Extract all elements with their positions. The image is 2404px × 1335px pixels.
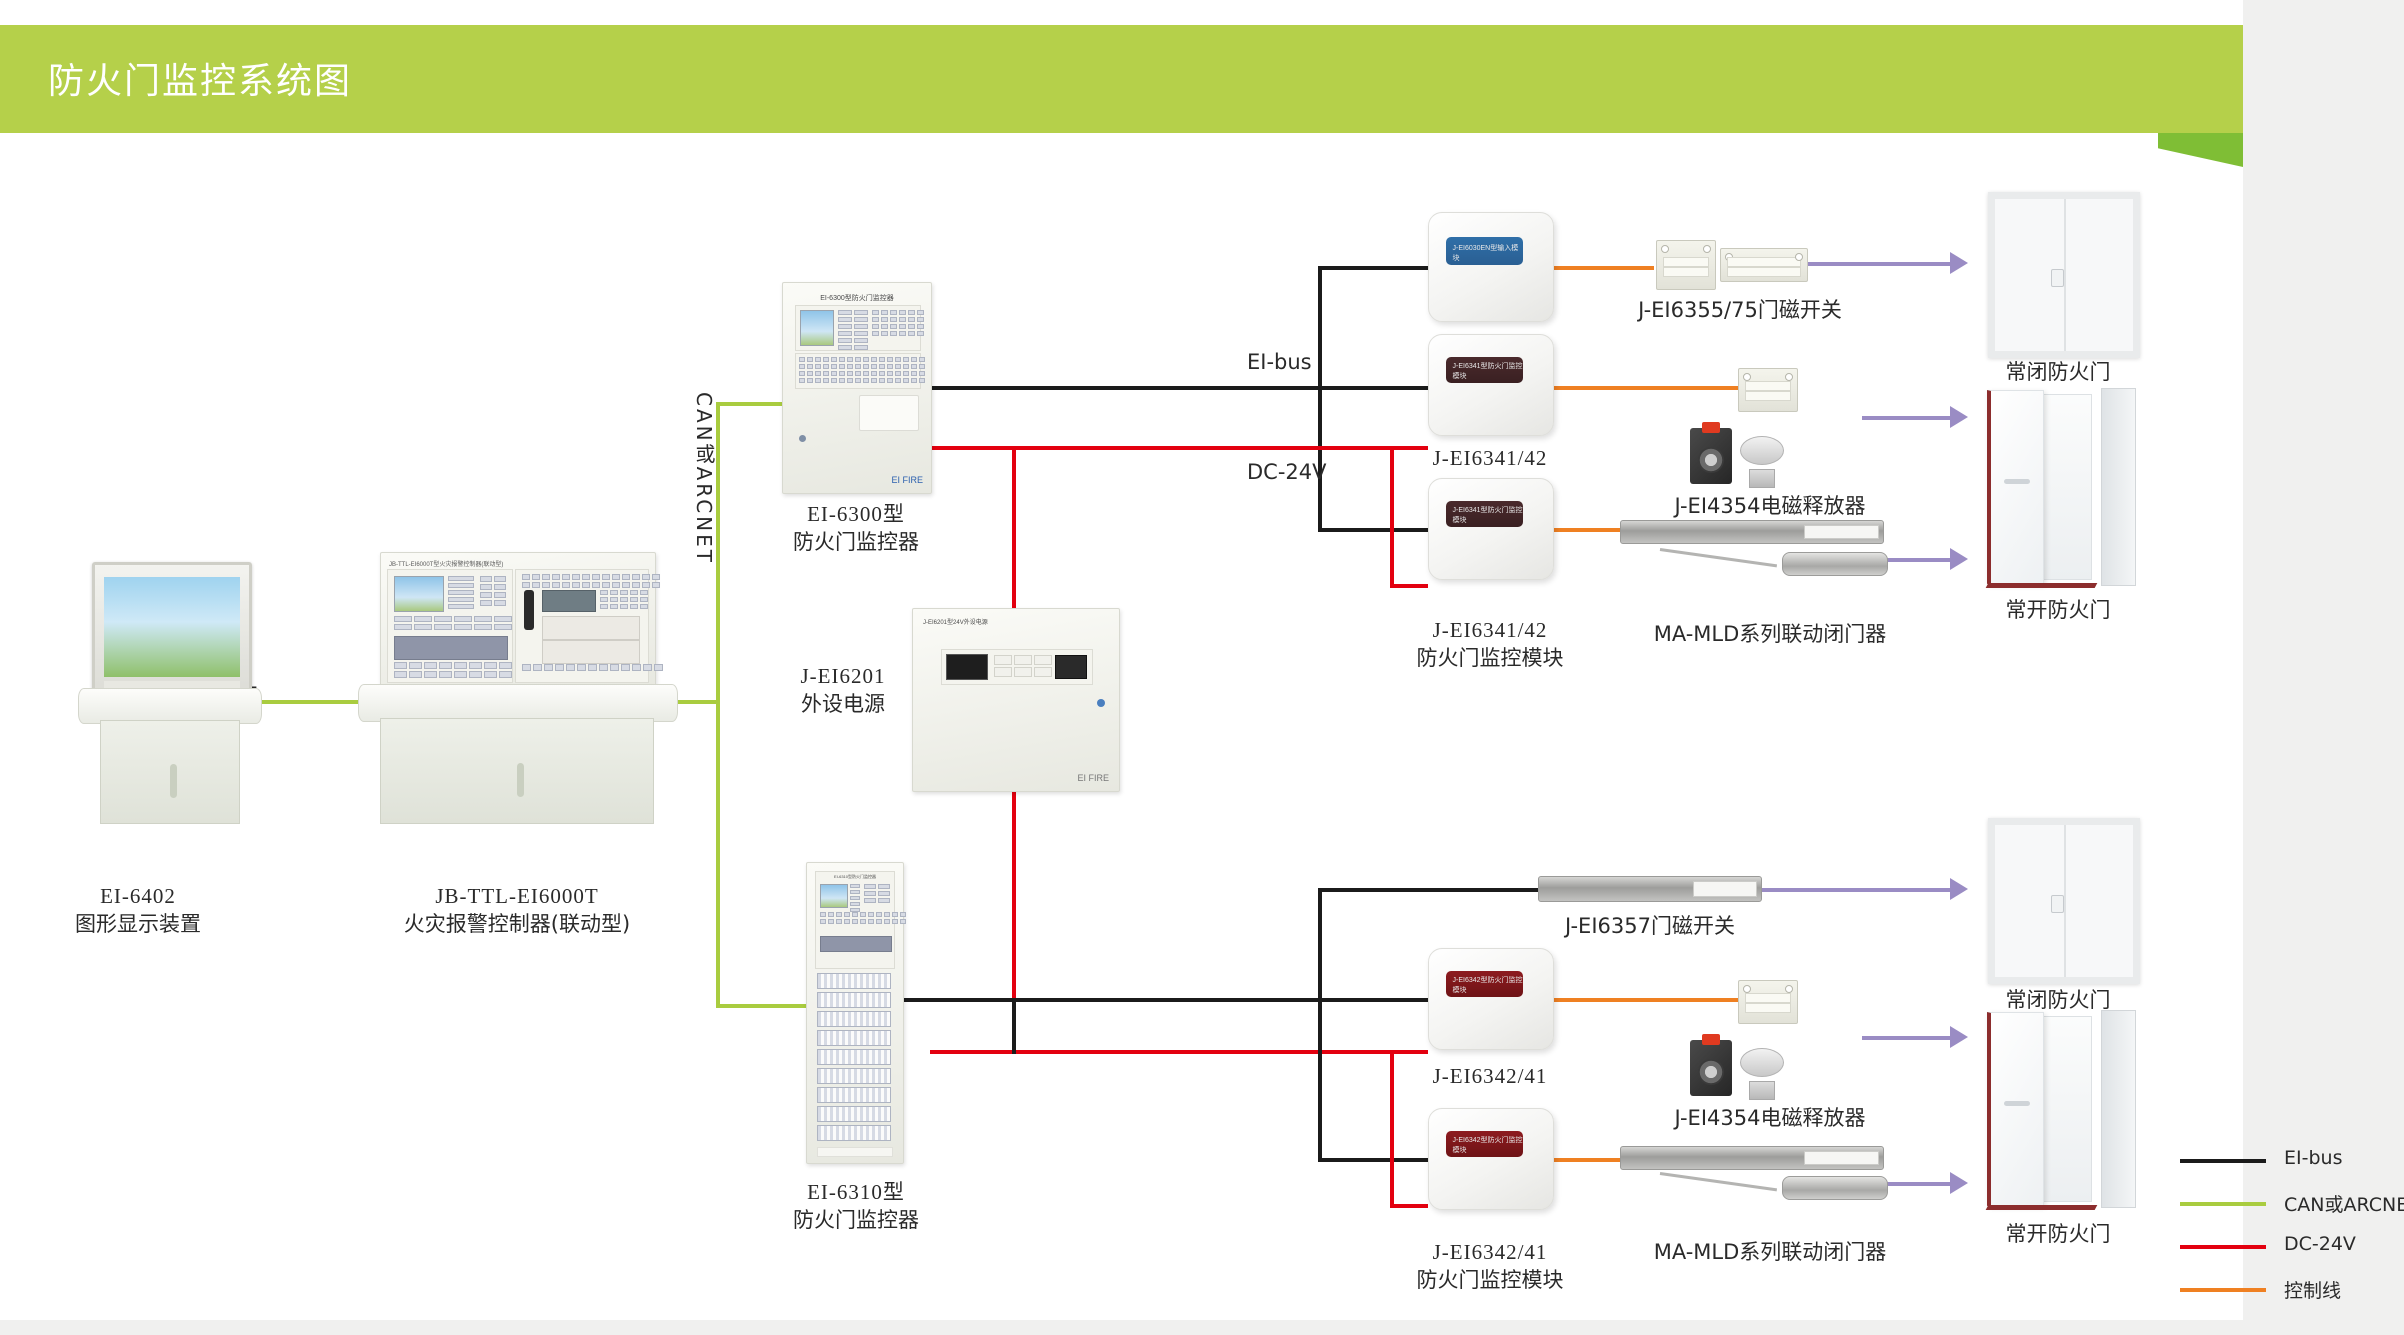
module-6341b-label-strip: J-EI6341型防火门监控模块 bbox=[1446, 501, 1523, 527]
power-supply-model: J-EI6201 bbox=[778, 662, 908, 690]
monitor-6310-led-col bbox=[850, 884, 860, 912]
arrow-door-open-bottom-1 bbox=[1950, 1026, 1968, 1048]
device-door-switch-6355-mate bbox=[1720, 248, 1808, 282]
module-6342a-strip-text: J-EI6342型防火门监控模块 bbox=[1453, 975, 1524, 995]
door-switch-6357-tag bbox=[1693, 881, 1757, 897]
wire-dc24v-bottom-riser bbox=[1390, 1050, 1394, 1206]
monitor-6310-module-bay bbox=[820, 936, 892, 952]
releaser-top-coil bbox=[1698, 447, 1723, 473]
legend-label-ei-bus: EI-bus bbox=[2284, 1147, 2342, 1169]
legend-swatch-dc24v bbox=[2180, 1245, 2266, 1249]
legend-label-control-line: 控制线 bbox=[2284, 1276, 2341, 1303]
door-switch-6355-label: J-EI6355/75门磁开关 bbox=[1600, 296, 1880, 324]
device-door-closed-top bbox=[1988, 192, 2140, 358]
wire-eibus-bottom-riser bbox=[1318, 890, 1322, 1160]
releaser-bottom-label: J-EI4354电磁释放器 bbox=[1620, 1104, 1920, 1132]
module-6342b-label-strip: J-EI6342型防火门监控模块 bbox=[1446, 1131, 1523, 1157]
device-module-6342-a[interactable]: J-EI6342型防火门监控模块 bbox=[1428, 948, 1554, 1050]
device-closer-top-body bbox=[1782, 552, 1888, 576]
module-6030en-strip-text: J-EI6030EN型输入模块 bbox=[1453, 243, 1524, 263]
wire-eibus-bottom-spine bbox=[1012, 1000, 1016, 1054]
arrow-door-open-top-2 bbox=[1950, 548, 1968, 570]
device-input-module-6030en[interactable]: J-EI6030EN型输入模块 bbox=[1428, 212, 1554, 322]
door-open-top-leaf-back bbox=[2036, 394, 2093, 580]
door-switch-6355-line-1 bbox=[1663, 257, 1709, 267]
wire-can-to-6310 bbox=[716, 1004, 806, 1008]
controller-panel-title: JB-TTL-EI6000T型火灾报警控制器(联动型) bbox=[389, 559, 503, 568]
module-6341b-strip-text: J-EI6341型防火门监控模块 bbox=[1453, 505, 1524, 525]
power-supply-face bbox=[941, 649, 1093, 685]
door-open-bottom-sill bbox=[1986, 1205, 2098, 1210]
door-open-top-label: 常开防火门 bbox=[1958, 596, 2158, 624]
door-switch-6355-mate-line-2 bbox=[1727, 267, 1801, 277]
monitor-6300-model: EI-6300型 bbox=[760, 500, 952, 528]
wire-dc24v-to-6342a bbox=[1390, 1050, 1428, 1054]
controller-right-top-keys[interactable] bbox=[522, 574, 660, 588]
releaser-bottom-plate-disc bbox=[1740, 1048, 1784, 1077]
controller-handset-bay bbox=[394, 636, 508, 660]
controller-right-keys[interactable] bbox=[600, 590, 648, 609]
device-closer-top-rail bbox=[1620, 520, 1884, 544]
wire-eibus-top-main bbox=[930, 386, 1320, 390]
legend-label-dc24v: DC-24V bbox=[2284, 1233, 2356, 1255]
device-power-supply[interactable]: J-EI6201型24V外设电源 EI FIRE bbox=[912, 608, 1120, 792]
device-module-6342-b[interactable]: J-EI6342型防火门监控模块 bbox=[1428, 1108, 1554, 1210]
module-6341a-label-strip: J-EI6341型防火门监控模块 bbox=[1446, 357, 1523, 383]
module-6341-b-name: 防火门监控模块 bbox=[1410, 644, 1570, 672]
power-supply-indicators bbox=[994, 655, 1052, 677]
legend-swatch-can-arcnet bbox=[2180, 1202, 2266, 1206]
wire-dc24v-to-6342b bbox=[1390, 1204, 1428, 1208]
wire-out-door-open-bottom-2 bbox=[1884, 1182, 1954, 1186]
monitor-6300-name: 防火门监控器 bbox=[760, 528, 952, 556]
device-door-switch-bottom bbox=[1738, 980, 1798, 1024]
door-switch-6355-line-2 bbox=[1663, 267, 1709, 277]
power-supply-switches[interactable] bbox=[1055, 655, 1087, 679]
monitor-6310-upper-face: EI-6310型防火门监控器 bbox=[815, 871, 895, 969]
releaser-bottom-button[interactable] bbox=[1702, 1034, 1720, 1045]
device-graphic-display[interactable] bbox=[78, 562, 260, 822]
closer-bottom-label: MA-MLD系列联动闭门器 bbox=[1620, 1238, 1920, 1266]
controller-lcd bbox=[542, 590, 596, 612]
device-door-closed-bottom bbox=[1988, 818, 2140, 984]
device-releaser-top-plate bbox=[1740, 436, 1782, 488]
monitor-6300-zone-face bbox=[795, 353, 921, 389]
module-6030en-label-strip: J-EI6030EN型输入模块 bbox=[1446, 237, 1523, 265]
monitor-6310-keypad[interactable] bbox=[820, 912, 906, 924]
device-closer-bottom-rail bbox=[1620, 1146, 1884, 1170]
device-fire-alarm-controller[interactable]: JB-TTL-EI6000T型火灾报警控制器(联动型) bbox=[358, 552, 676, 822]
controller-keypad[interactable] bbox=[394, 616, 512, 630]
monitor-6310-display bbox=[820, 884, 848, 908]
door-open-bottom-leaf-front bbox=[1987, 1012, 2044, 1206]
graphic-display-cabinet bbox=[100, 720, 240, 824]
monitor-screen-image bbox=[104, 577, 240, 677]
power-supply-panel-title: J-EI6201型24V外设电源 bbox=[923, 617, 988, 626]
controller-led-column bbox=[448, 576, 474, 609]
monitor-6310-card-racks bbox=[817, 973, 891, 1141]
monitor-6300-left-keys[interactable] bbox=[838, 310, 868, 350]
monitor-6310-status-leds bbox=[864, 884, 890, 903]
closer-top-label: MA-MLD系列联动闭门器 bbox=[1620, 620, 1920, 648]
arrow-door-closed-top bbox=[1950, 252, 1968, 274]
device-door-open-top bbox=[1984, 388, 2136, 584]
page-title: 防火门监控系统图 bbox=[48, 52, 352, 104]
door-open-top-sill bbox=[1986, 583, 2098, 588]
device-door-open-bottom bbox=[1984, 1010, 2136, 1206]
releaser-top-plate-disc bbox=[1740, 436, 1784, 465]
device-module-6341-a[interactable]: J-EI6341型防火门监控模块 bbox=[1428, 334, 1554, 436]
door-closed-top-label: 常闭防火门 bbox=[1958, 358, 2158, 386]
module-6342b-strip-text: J-EI6342型防火门监控模块 bbox=[1453, 1135, 1524, 1155]
monitor-6310-model: EI-6310型 bbox=[758, 1178, 954, 1206]
device-closer-bottom-body bbox=[1782, 1176, 1888, 1200]
module-6341-a-model: J-EI6341/42 bbox=[1410, 444, 1570, 472]
wire-eibus-to-6030en bbox=[1318, 266, 1428, 270]
closer-bottom-rail-tag bbox=[1804, 1151, 1879, 1165]
diagram-page: 防火门监控系统图 CAN或ARCNET CAN或 ARCNET EI-bus D… bbox=[0, 0, 2404, 1335]
monitor-6300-display bbox=[800, 310, 834, 346]
module-6342-a-model: J-EI6342/41 bbox=[1410, 1062, 1570, 1090]
module-6342a-label-strip: J-EI6342型防火门监控模块 bbox=[1446, 971, 1523, 997]
device-monitor-6310[interactable]: EI-6310型防火门监控器 bbox=[806, 862, 904, 1164]
controller-display bbox=[394, 576, 444, 612]
fire-alarm-controller-model: JB-TTL-EI6000T bbox=[366, 882, 668, 910]
wire-out-door-open-bottom-1 bbox=[1862, 1036, 1954, 1040]
can-arcnet-vertical-label: CAN或ARCNET bbox=[690, 392, 719, 565]
wire-out-door-open-top-2 bbox=[1884, 558, 1954, 562]
controller-desk-top bbox=[358, 684, 678, 722]
controller-cabinet bbox=[380, 718, 654, 824]
door-open-bottom-frame bbox=[2101, 1010, 2136, 1208]
wire-control-6342b bbox=[1552, 1158, 1620, 1162]
wire-eibus-to-6357 bbox=[1318, 888, 1538, 892]
wire-dc24v-top-main bbox=[930, 446, 1392, 450]
wire-dc24v-to-6341b bbox=[1390, 584, 1428, 588]
monitor-6300-printer bbox=[859, 395, 919, 431]
closer-top-rail-tag bbox=[1804, 525, 1879, 539]
device-releaser-top bbox=[1690, 428, 1732, 484]
arrow-door-open-bottom-2 bbox=[1950, 1172, 1968, 1194]
door-open-top-handle bbox=[2004, 479, 2030, 484]
legend-swatch-control-line bbox=[2180, 1288, 2266, 1292]
releaser-top-plate-base bbox=[1749, 469, 1775, 488]
power-supply-lock[interactable] bbox=[1097, 699, 1105, 707]
module-6342-b-name: 防火门监控模块 bbox=[1410, 1266, 1570, 1294]
controller-bottom-keys[interactable] bbox=[522, 664, 663, 671]
monitor-6300-lock[interactable] bbox=[799, 435, 806, 442]
module-6342-b-model: J-EI6342/41 bbox=[1410, 1238, 1570, 1266]
device-door-switch-top-2 bbox=[1738, 368, 1798, 412]
controller-left-face bbox=[387, 569, 513, 683]
device-door-switch-6357 bbox=[1538, 876, 1762, 902]
door-open-bottom-leaf-back bbox=[2036, 1016, 2093, 1202]
door-open-bottom-handle bbox=[2004, 1101, 2030, 1106]
wire-eibus-to-6342b bbox=[1318, 1158, 1428, 1162]
monitor-6300-zone-leds bbox=[799, 357, 925, 383]
module-6341a-strip-text: J-EI6341型防火门监控模块 bbox=[1453, 361, 1524, 381]
dc24v-label-top: DC-24V bbox=[1247, 460, 1327, 484]
controller-panel: JB-TTL-EI6000T型火灾报警控制器(联动型) bbox=[380, 552, 656, 690]
graphic-display-name: 图形显示装置 bbox=[18, 910, 258, 938]
monitor-6310-panel-title: EI-6310型防火门监控器 bbox=[816, 874, 894, 880]
door-switch-6357-label: J-EI6357门磁开关 bbox=[1530, 912, 1770, 940]
controller-status-leds bbox=[480, 576, 506, 606]
controller-zone-keys[interactable] bbox=[394, 662, 512, 678]
monitor-6300-brand-logo: EI FIRE bbox=[891, 475, 923, 485]
device-releaser-bottom bbox=[1690, 1040, 1732, 1096]
power-supply-display bbox=[946, 654, 988, 680]
legend-label-can-arcnet: CAN或ARCNET bbox=[2284, 1190, 2404, 1217]
wire-out-door-open-top-1 bbox=[1862, 416, 1954, 420]
door-open-top-frame bbox=[2101, 388, 2136, 586]
releaser-top-label: J-EI4354电磁释放器 bbox=[1620, 492, 1920, 520]
releaser-top-button[interactable] bbox=[1702, 422, 1720, 433]
device-monitor-6300[interactable]: EI-6300型防火门监控器 EI FIRE bbox=[782, 282, 932, 494]
fire-alarm-controller-name: 火灾报警控制器(联动型) bbox=[366, 910, 668, 938]
ei-bus-label-top: EI-bus bbox=[1247, 350, 1312, 374]
wire-eibus-to-6342a bbox=[1318, 998, 1428, 1002]
device-module-6341-b[interactable]: J-EI6341型防火门监控模块 bbox=[1428, 478, 1554, 580]
wire-eibus-to-6341b bbox=[1318, 528, 1428, 532]
monitor-6300-upper-face bbox=[795, 305, 921, 351]
device-releaser-bottom-plate bbox=[1740, 1048, 1782, 1100]
door-switch-top2-line-1 bbox=[1745, 381, 1791, 391]
graphic-display-model: EI-6402 bbox=[18, 882, 258, 910]
wire-eibus-bottom-main bbox=[902, 998, 1322, 1002]
releaser-bottom-plate-base bbox=[1749, 1081, 1775, 1100]
power-supply-brand-logo: EI FIRE bbox=[1077, 773, 1109, 783]
power-supply-name: 外设电源 bbox=[778, 690, 908, 718]
wire-dc24v-top-riser bbox=[1390, 446, 1394, 586]
door-open-top-leaf-front bbox=[1987, 390, 2044, 584]
wire-control-6030en bbox=[1552, 266, 1654, 270]
releaser-bottom-coil bbox=[1698, 1059, 1723, 1085]
controller-right-face bbox=[515, 569, 649, 683]
wire-eibus-to-6341a bbox=[1318, 386, 1428, 390]
controller-amp-module-2 bbox=[542, 640, 640, 664]
arrow-door-closed-bottom bbox=[1950, 878, 1968, 900]
arrow-door-open-top-1 bbox=[1950, 406, 1968, 428]
wire-eibus-top-riser bbox=[1318, 268, 1322, 530]
door-switch-bottom-line-2 bbox=[1745, 1003, 1791, 1013]
monitor-6310-lower-door[interactable] bbox=[817, 1147, 893, 1157]
door-switch-top2-line-2 bbox=[1745, 391, 1791, 401]
graphic-display-monitor bbox=[92, 562, 252, 700]
door-switch-6355-mate-line-1 bbox=[1727, 257, 1801, 267]
device-door-switch-6355-body bbox=[1656, 240, 1716, 290]
module-6341-b-model: J-EI6341/42 bbox=[1410, 616, 1570, 644]
door-closed-bottom-handle bbox=[2051, 895, 2064, 913]
controller-microphone[interactable] bbox=[524, 590, 534, 630]
legend-swatch-ei-bus bbox=[2180, 1159, 2266, 1163]
wire-control-6341b bbox=[1552, 528, 1620, 532]
wire-control-6342a bbox=[1552, 998, 1764, 1002]
controller-amp-module-1 bbox=[542, 616, 640, 640]
door-switch-bottom-line-1 bbox=[1745, 993, 1791, 1003]
graphic-display-desk bbox=[78, 688, 262, 724]
monitor-6310-name: 防火门监控器 bbox=[758, 1206, 954, 1234]
monitor-6300-panel-title: EI-6300型防火门监控器 bbox=[783, 293, 931, 303]
wire-out-door-closed-bottom bbox=[1760, 888, 1952, 892]
monitor-6300-keypad[interactable] bbox=[872, 310, 924, 336]
door-open-bottom-label: 常开防火门 bbox=[1958, 1220, 2158, 1248]
wire-control-6341a bbox=[1552, 386, 1764, 390]
door-closed-top-handle bbox=[2051, 269, 2064, 287]
